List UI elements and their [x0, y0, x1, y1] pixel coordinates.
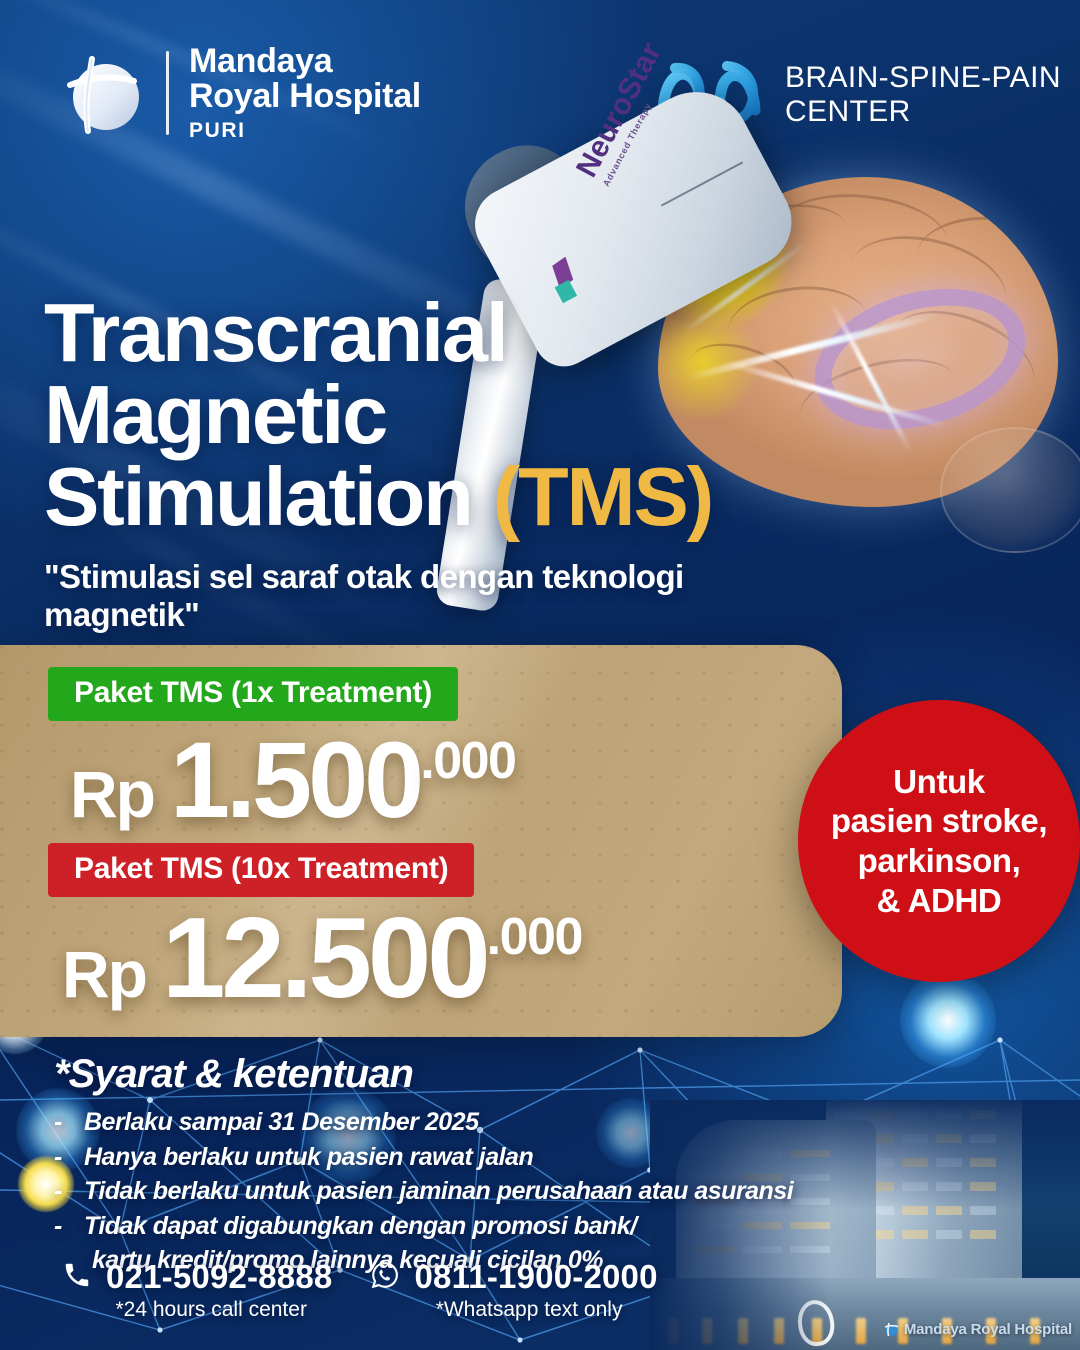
page-tagline: "Stimulasi sel saraf otak dengan teknolo…	[44, 558, 844, 634]
hospital-brand: Mandaya Royal Hospital PURI	[62, 44, 421, 142]
whatsapp-icon	[370, 1260, 400, 1295]
package-tag-2: Paket TMS (10x Treatment)	[48, 843, 474, 897]
terms-dash: -	[54, 1105, 62, 1140]
contact-bar: 021-5092-8888 *24 hours call center 0811…	[62, 1258, 658, 1322]
price-amount-1: 1.500	[170, 717, 420, 842]
building-signage-text: Mandaya Royal Hospital	[904, 1321, 1072, 1338]
hospital-name-line2: Royal Hospital	[189, 79, 421, 114]
terms-dash: -	[54, 1174, 62, 1209]
title-acronym: (TMS)	[493, 450, 712, 543]
package-price-1: Rp 1.500 .000	[70, 717, 515, 842]
price-decimals-2: .000	[487, 907, 582, 967]
whatsapp-number: 0811-1900-2000	[414, 1258, 657, 1296]
terms-title: *Syarat & ketentuan	[54, 1052, 844, 1097]
title-line-2: Magnetic	[44, 374, 844, 456]
hospital-name: Mandaya Royal Hospital PURI	[189, 44, 421, 142]
hospital-name-line1: Mandaya	[189, 44, 421, 79]
terms-item: - Berlaku sampai 31 Desember 2025	[54, 1105, 844, 1140]
whatsapp-note: *Whatsapp text only	[400, 1298, 657, 1322]
title-line-3-text: Stimulation	[44, 450, 472, 543]
title-line-3: Stimulation (TMS)	[44, 456, 844, 538]
phone-note: *24 hours call center	[90, 1298, 332, 1322]
phone-number: 021-5092-8888	[106, 1258, 332, 1296]
terms-item: - Hanya berlaku untuk pasien rawat jalan	[54, 1140, 844, 1175]
terms-and-conditions: *Syarat & ketentuan - Berlaku sampai 31 …	[54, 1052, 844, 1278]
price-currency-1: Rp	[70, 756, 154, 832]
terms-item: - Tidak berlaku untuk pasien jaminan per…	[54, 1174, 844, 1209]
badge-line-4: & ADHD	[831, 881, 1047, 921]
page-title: Transcranial Magnetic Stimulation (TMS) …	[44, 292, 844, 634]
package-price-2: Rp 12.500 .000	[62, 893, 582, 1024]
mandaya-sphere-cross-logo	[62, 51, 146, 135]
badge-line-1: Untuk	[831, 762, 1047, 802]
title-line-1: Transcranial	[44, 292, 844, 374]
hospital-branch: PURI	[189, 120, 421, 141]
badge-line-2: pasien stroke,	[831, 801, 1047, 841]
indication-badge: Untuk pasien stroke, parkinson, & ADHD	[798, 700, 1080, 982]
pricing-panel: Paket TMS (1x Treatment) Rp 1.500 .000 P…	[0, 645, 842, 1037]
package-tag-1: Paket TMS (1x Treatment)	[48, 667, 458, 721]
promo-poster: Mandaya Royal Hospital PURI BRAI	[0, 0, 1080, 1350]
terms-item-text: Hanya berlaku untuk pasien rawat jalan	[84, 1143, 533, 1171]
indication-badge-text: Untuk pasien stroke, parkinson, & ADHD	[817, 762, 1061, 920]
contact-whatsapp[interactable]: 0811-1900-2000 *Whatsapp text only	[370, 1258, 657, 1322]
terms-dash: -	[54, 1140, 62, 1175]
building-signage: Mandaya Royal Hospital	[884, 1321, 1072, 1338]
price-decimals-1: .000	[420, 731, 515, 791]
price-amount-2: 12.500	[162, 893, 487, 1024]
terms-dash: -	[54, 1209, 62, 1244]
terms-item-text: Tidak berlaku untuk pasien jaminan perus…	[84, 1177, 793, 1205]
brand-divider	[166, 51, 169, 135]
contact-phone[interactable]: 021-5092-8888 *24 hours call center	[62, 1258, 332, 1322]
cerebellum-outline	[940, 427, 1080, 553]
price-currency-2: Rp	[62, 936, 146, 1012]
badge-line-3: parkinson,	[831, 841, 1047, 881]
phone-icon	[62, 1260, 92, 1295]
terms-item-text: Tidak dapat digabungkan dengan promosi b…	[84, 1212, 637, 1240]
terms-item-text: Berlaku sampai 31 Desember 2025	[84, 1108, 478, 1136]
terms-list: - Berlaku sampai 31 Desember 2025 - Hany…	[54, 1105, 844, 1278]
